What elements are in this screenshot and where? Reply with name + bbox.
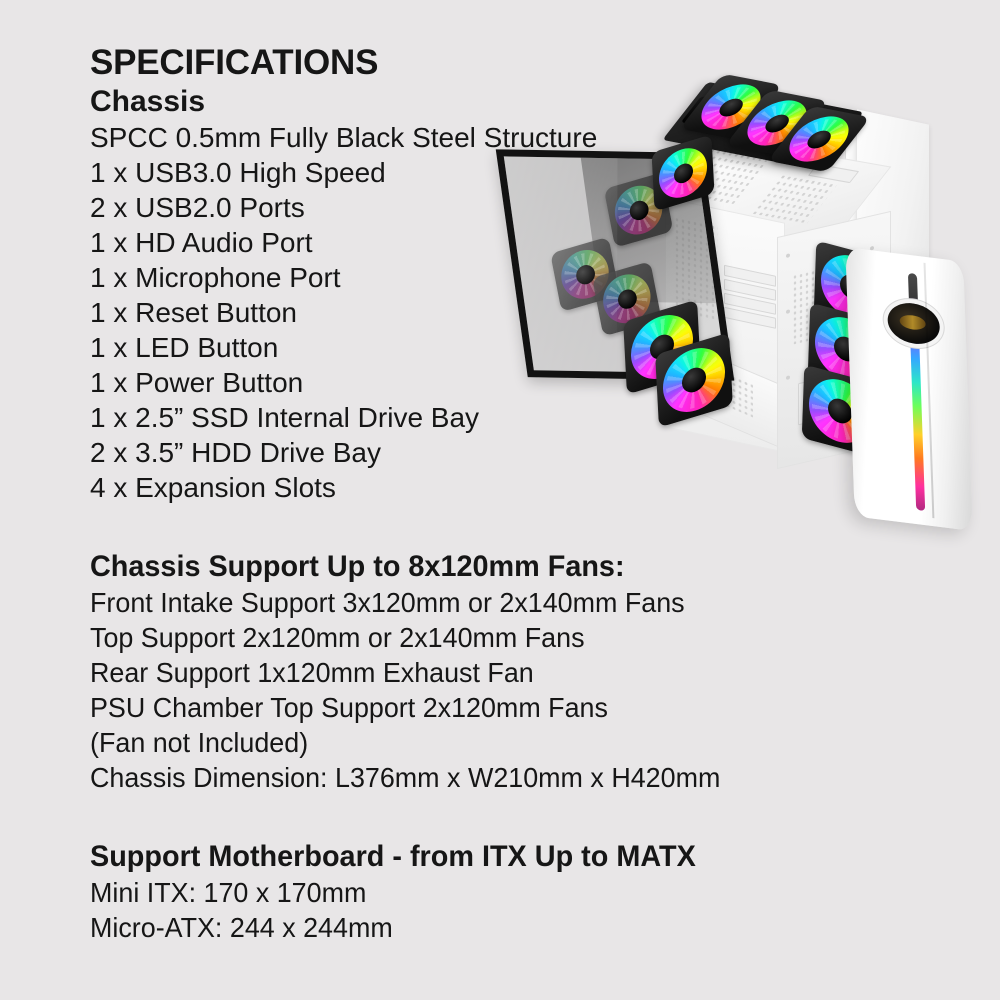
page-title: SPECIFICATIONS [90,42,910,84]
spec-line: Top Support 2x120mm or 2x140mm Fans [90,620,877,655]
spec-line: Rear Support 1x120mm Exhaust Fan [90,655,877,690]
spec-line: Micro-ATX: 244 x 244mm [90,910,877,945]
spec-line: 2 x USB2.0 Ports [90,190,910,225]
spec-line: 1 x 2.5” SSD Internal Drive Bay [90,400,910,435]
spec-line: PSU Chamber Top Support 2x120mm Fans [90,690,877,725]
spec-line: Chassis Dimension: L376mm x W210mm x H42… [90,760,877,795]
spec-line: Front Intake Support 3x120mm or 2x140mm … [90,585,877,620]
spec-line: SPCC 0.5mm Fully Black Steel Structure [90,120,910,155]
spec-line: 1 x Reset Button [90,295,910,330]
spec-line: 2 x 3.5” HDD Drive Bay [90,435,910,470]
spec-line: 1 x Microphone Port [90,260,910,295]
spec-line: 4 x Expansion Slots [90,470,910,505]
section-heading-motherboard: Support Motherboard - from ITX Up to MAT… [90,839,877,875]
spec-line: 1 x HD Audio Port [90,225,910,260]
spec-line: 1 x LED Button [90,330,910,365]
spec-line: 1 x Power Button [90,365,910,400]
section-fan-support: Chassis Support Up to 8x120mm Fans: Fron… [90,549,910,795]
specifications-text-block: SPECIFICATIONS Chassis SPCC 0.5mm Fully … [90,42,910,945]
spec-line: (Fan not Included) [90,725,877,760]
section-heading-chassis: Chassis [90,84,910,120]
spec-line: Mini ITX: 170 x 170mm [90,875,877,910]
spec-line: 1 x USB3.0 High Speed [90,155,910,190]
section-heading-fan-support: Chassis Support Up to 8x120mm Fans: [90,549,877,585]
spec-sheet-page: SPECIFICATIONS Chassis SPCC 0.5mm Fully … [0,0,1000,1000]
section-motherboard-support: Support Motherboard - from ITX Up to MAT… [90,839,910,945]
section-chassis: Chassis SPCC 0.5mm Fully Black Steel Str… [90,84,910,505]
